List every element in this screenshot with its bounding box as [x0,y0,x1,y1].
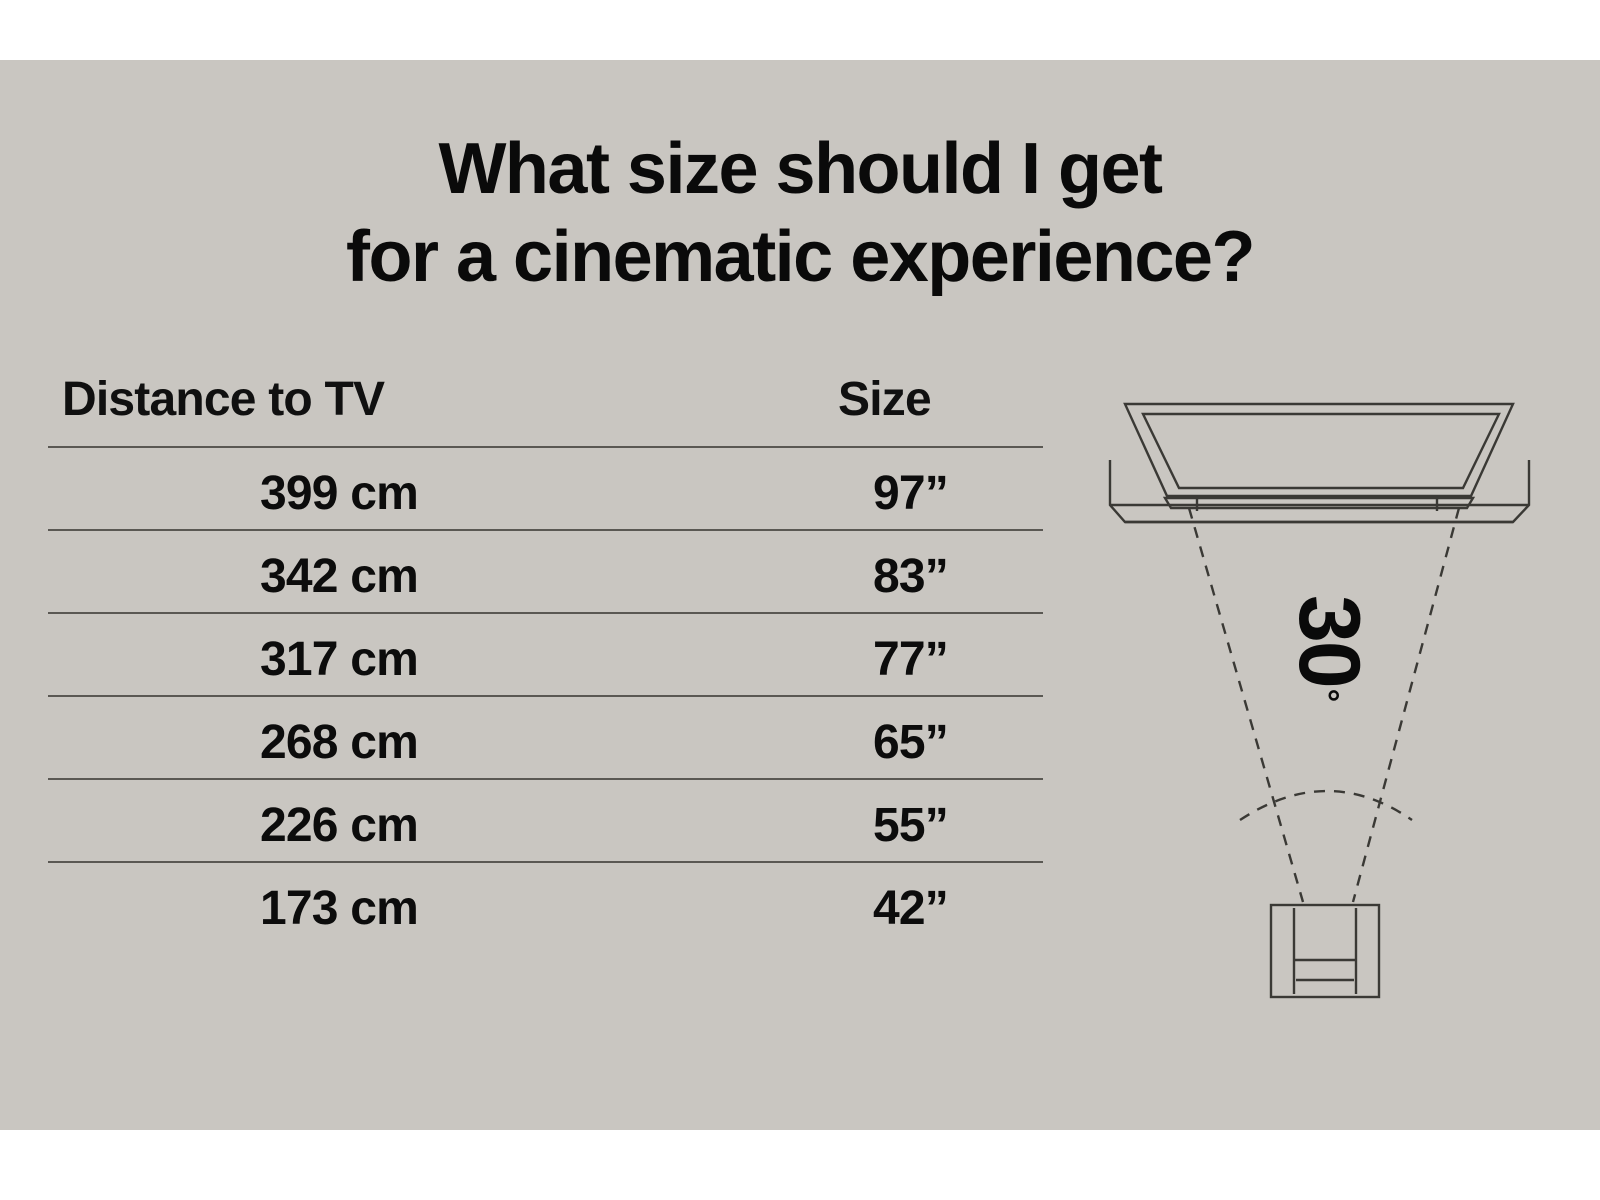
cell-size: 55” [48,798,948,853]
table-row: 226 cm 55” [48,778,1043,861]
cell-size: 42” [48,881,948,936]
sofa-top-view [1271,905,1379,997]
infographic-canvas: What size should I get for a cinematic e… [0,0,1600,1200]
cell-size: 97” [48,466,948,521]
tv-screen-outline [1125,404,1513,496]
table-row: 342 cm 83” [48,529,1043,612]
cell-size: 77” [48,632,948,687]
degree-symbol: ° [1307,689,1345,703]
tv-stand-base [1110,460,1529,522]
cell-size: 83” [48,549,948,604]
page-title-line-2: for a cinematic experience? [0,213,1600,301]
table-row: 317 cm 77” [48,612,1043,695]
tv-panel-lip [1165,498,1473,508]
table-row: 399 cm 97” [48,446,1043,529]
table-row: 173 cm 42” [48,861,1043,944]
tv-screen-bezel [1143,414,1499,488]
table-header-row: Distance to TV Size [48,372,1043,446]
page-title-line-1: What size should I get [438,129,1161,209]
page-title: What size should I get for a cinematic e… [0,125,1600,301]
tv-top-view [1110,404,1529,522]
column-header-distance: Distance to TV [62,372,384,427]
size-recommendation-table: Distance to TV Size 399 cm 97” 342 cm 83… [48,372,1043,944]
sightline-right [1353,508,1459,902]
table-row: 268 cm 65” [48,695,1043,778]
angle-arc [1240,791,1412,820]
angle-value: 30 [1281,595,1377,687]
column-header-size: Size [838,372,931,427]
viewing-angle-sightlines [1189,508,1459,902]
sightline-left [1189,508,1303,902]
angle-label: 30° [1228,595,1378,685]
cell-size: 65” [48,715,948,770]
sofa-outline [1271,905,1379,997]
